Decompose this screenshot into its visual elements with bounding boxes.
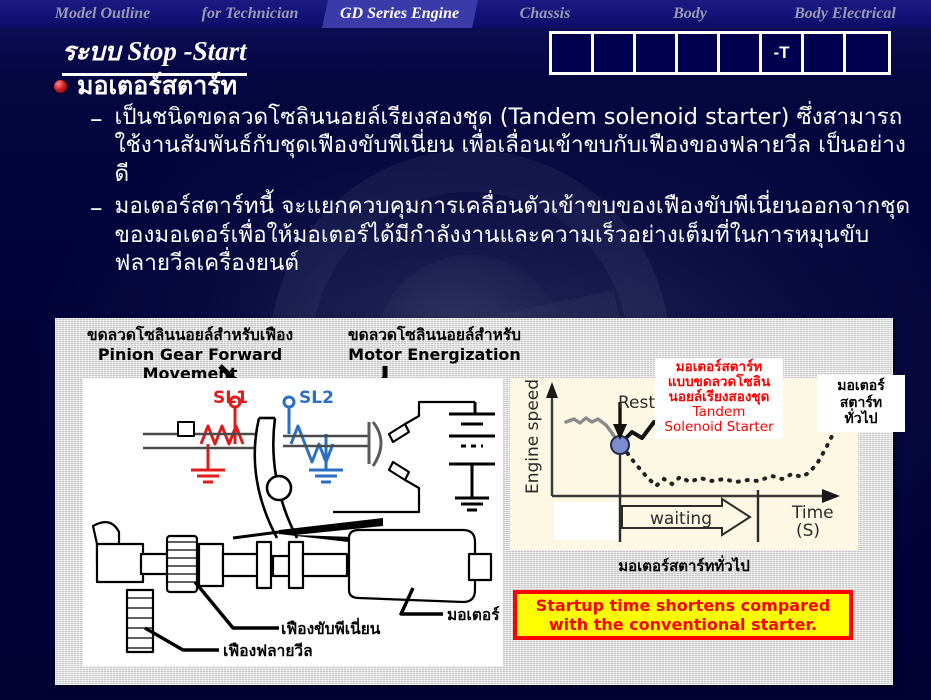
- tandem-starter-note-line-1: มอเตอร์สตาร์ท: [659, 360, 779, 375]
- nav-tab-gd-series-engine[interactable]: GD Series Engine: [322, 0, 478, 28]
- list-item: – เป็นชนิดขดลวดโซลินนอยล์เรียงสองชุด (Ta…: [90, 103, 914, 189]
- chart-caption: มอเตอร์สตาร์ททั่วไป: [510, 554, 858, 578]
- top-navigation-bar: Model Outlinefor TechnicianGD Series Eng…: [0, 0, 931, 28]
- nav-tab-label: GD Series Engine: [340, 5, 459, 23]
- nav-tab-model-outline[interactable]: Model Outline: [30, 0, 175, 28]
- callout-flywheel-gear: เฟืองฟลายวีล: [223, 638, 313, 663]
- callout-motor: มอเตอร์: [447, 602, 500, 627]
- nav-tab-body-electrical[interactable]: Body Electrical: [770, 0, 920, 28]
- code-box-group: -T: [549, 31, 891, 75]
- conventional-starter-note-line-2: สตาร์ท: [819, 395, 903, 412]
- label-motor-solenoid-en: Motor Energization: [327, 345, 542, 365]
- dash-marker: –: [90, 103, 103, 135]
- svg-text:Engine speed: Engine speed: [523, 379, 543, 494]
- dash-marker: –: [90, 192, 103, 224]
- page-title: ระบบ Stop -Start: [62, 32, 247, 76]
- tandem-starter-note-line-3: นอยล์เรียงสองชุด: [659, 390, 779, 405]
- nav-tab-label: Model Outline: [55, 5, 151, 23]
- diagram-panel: ขดลวดโซลินนอยล์สำหรับเฟือง Pinion Gear F…: [55, 318, 893, 685]
- bullet-text-2: มอเตอร์สตาร์ทนี้ จะแยกควบคุมการเคลื่อนตั…: [115, 192, 915, 278]
- page-title-en: Stop -Start: [127, 36, 246, 66]
- startup-time-note: Startup time shortens compared with the …: [513, 590, 853, 640]
- conventional-starter-note-line-3: ทั่วไป: [819, 411, 903, 428]
- nav-tab-label: Body: [673, 5, 707, 23]
- code-box-cell-6: -T: [762, 34, 804, 72]
- list-item: – มอเตอร์สตาร์ทนี้ จะแยกควบคุมการเคลื่อน…: [90, 192, 914, 278]
- code-box-cell-3: [636, 34, 678, 72]
- code-box-cell-5: [720, 34, 762, 72]
- label-motor-solenoid: ขดลวดโซลินนอยล์สำหรับ Motor Energization: [327, 326, 542, 364]
- code-box-cell-7: [804, 34, 846, 72]
- tandem-starter-note-line-5: Solenoid Starter: [659, 420, 779, 435]
- code-box-cell-2: [594, 34, 636, 72]
- nav-tab-label: Chassis: [520, 5, 571, 23]
- conventional-starter-note-line-1: มอเตอร์: [819, 378, 903, 395]
- nav-tab-for-technician[interactable]: for Technician: [180, 0, 320, 28]
- tandem-starter-note: มอเตอร์สตาร์ทแบบขดลวดโซลินนอยล์เรียงสองช…: [655, 358, 783, 439]
- label-pinion-solenoid: ขดลวดโซลินนอยล์สำหรับเฟือง Pinion Gear F…: [65, 326, 315, 384]
- label-pinion-solenoid-thai: ขดลวดโซลินนอยล์สำหรับเฟือง: [65, 326, 315, 345]
- tandem-starter-note-line-4: Tandem: [659, 405, 779, 420]
- page-title-thai: ระบบ: [62, 37, 121, 66]
- tandem-starter-note-line-2: แบบขดลวดโซลิน: [659, 375, 779, 390]
- startup-time-note-line2: with the conventional starter.: [536, 615, 831, 634]
- code-box-cell-1: [552, 34, 594, 72]
- startup-time-note-line1: Startup time shortens compared: [536, 596, 831, 615]
- solenoid-1-label: SL1: [213, 388, 248, 408]
- code-box-cell-8: [846, 34, 888, 72]
- content-bullets: มอเตอร์สตาร์ท – เป็นชนิดขดลวดโซลินนอยล์เ…: [54, 72, 914, 278]
- bullet-text-1: เป็นชนิดขดลวดโซลินนอยล์เรียงสองชุด (Tand…: [115, 103, 915, 189]
- svg-text:waiting: waiting: [650, 509, 712, 529]
- bullet-heading: มอเตอร์สตาร์ท: [77, 72, 237, 100]
- nav-tab-chassis[interactable]: Chassis: [500, 0, 590, 28]
- conventional-starter-note: มอเตอร์สตาร์ททั่วไป: [817, 375, 905, 432]
- solenoid-2-label: SL2: [299, 388, 334, 408]
- nav-tab-label: Body Electrical: [794, 5, 896, 23]
- bullet-marker-icon: [54, 80, 67, 93]
- label-motor-solenoid-thai: ขดลวดโซลินนอยล์สำหรับ: [327, 326, 542, 345]
- svg-text:Time: Time: [791, 503, 834, 523]
- svg-text:(S): (S): [796, 521, 820, 541]
- nav-tab-body[interactable]: Body: [660, 0, 720, 28]
- slide-root: Model Outlinefor TechnicianGD Series Eng…: [0, 0, 931, 700]
- nav-tab-label: for Technician: [202, 5, 299, 23]
- starter-motor-schematic: เฟืองขับพีเนี่ยน เฟืองฟลายวีล มอเตอร์ SL…: [83, 378, 503, 666]
- code-box-cell-4: [678, 34, 720, 72]
